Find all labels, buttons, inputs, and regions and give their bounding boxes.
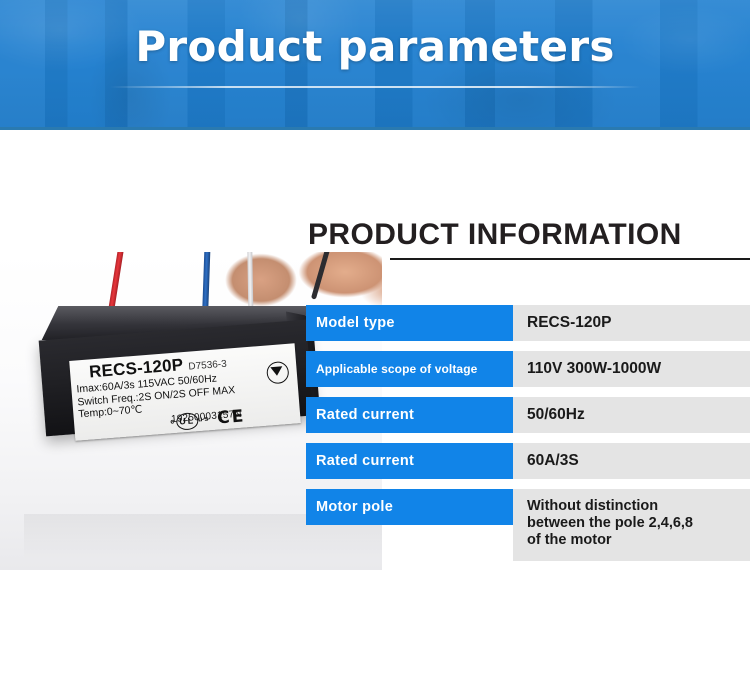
spec-value-rated-current: 60A/3S — [513, 443, 750, 479]
ul-suffix: us — [198, 416, 211, 424]
spec-label-rated-current-frequency: Rated current — [306, 397, 513, 433]
table-row: Rated current 50/60Hz — [306, 397, 750, 433]
spec-label-model-type: Model type — [306, 305, 513, 341]
ul-listed-icon: UL — [176, 412, 199, 431]
table-row: Applicable scope of voltage 110V 300W-10… — [306, 351, 750, 387]
spec-value-model-type: RECS-120P — [513, 305, 750, 341]
specification-table: Model type RECS-120P Applicable scope of… — [306, 305, 750, 571]
page-title: PRODUCT INFORMATION — [308, 218, 682, 252]
table-row: Model type RECS-120P — [306, 305, 750, 341]
table-row: Motor pole Without distinction between t… — [306, 489, 750, 561]
banner-title-underline — [110, 86, 640, 88]
ce-mark-icon: CE — [216, 406, 246, 428]
spec-label-voltage-scope: Applicable scope of voltage — [306, 351, 513, 387]
section-divider — [390, 258, 750, 260]
spec-label-rated-current: Rated current — [306, 443, 513, 479]
spec-value-motor-pole: Without distinction between the pole 2,4… — [513, 489, 750, 561]
spec-label-motor-pole: Motor pole — [306, 489, 513, 525]
spec-value-rated-current-frequency: 50/60Hz — [513, 397, 750, 433]
banner-title: Product parameters — [0, 22, 750, 71]
table-row: Rated current 60A/3S — [306, 443, 750, 479]
spec-value-voltage-scope: 110V 300W-1000W — [513, 351, 750, 387]
page-banner: Product parameters — [0, 0, 750, 130]
label-code: D7536-3 — [188, 359, 227, 373]
